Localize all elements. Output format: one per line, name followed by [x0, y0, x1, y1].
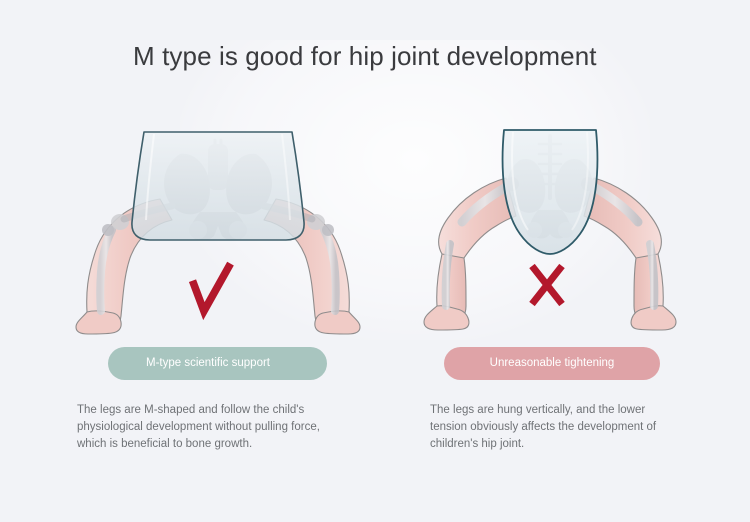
- panel-good: [68, 126, 368, 338]
- panel-bad: [400, 126, 700, 338]
- cross-mark-icon: [532, 266, 562, 304]
- leg-right-bad: [581, 177, 676, 330]
- page-title: M type is good for hip joint development: [133, 40, 603, 73]
- leg-left-bad: [424, 177, 519, 330]
- caption-good: The legs are M-shaped and follow the chi…: [77, 402, 347, 453]
- diaper-wide-good: [132, 132, 304, 240]
- infographic-page: M type is good for hip joint development: [0, 0, 750, 522]
- check-mark-icon: [193, 264, 231, 312]
- caption-bad: The legs are hung vertically, and the lo…: [430, 402, 680, 453]
- diaper-narrow-bad: [503, 130, 598, 254]
- badge-m-type-scientific-support[interactable]: M-type scientific support: [108, 347, 327, 380]
- baby-hips-m-position-illustration: [68, 126, 368, 338]
- baby-hips-vertical-position-illustration: [400, 126, 700, 338]
- badge-unreasonable-tightening[interactable]: Unreasonable tightening: [444, 347, 660, 380]
